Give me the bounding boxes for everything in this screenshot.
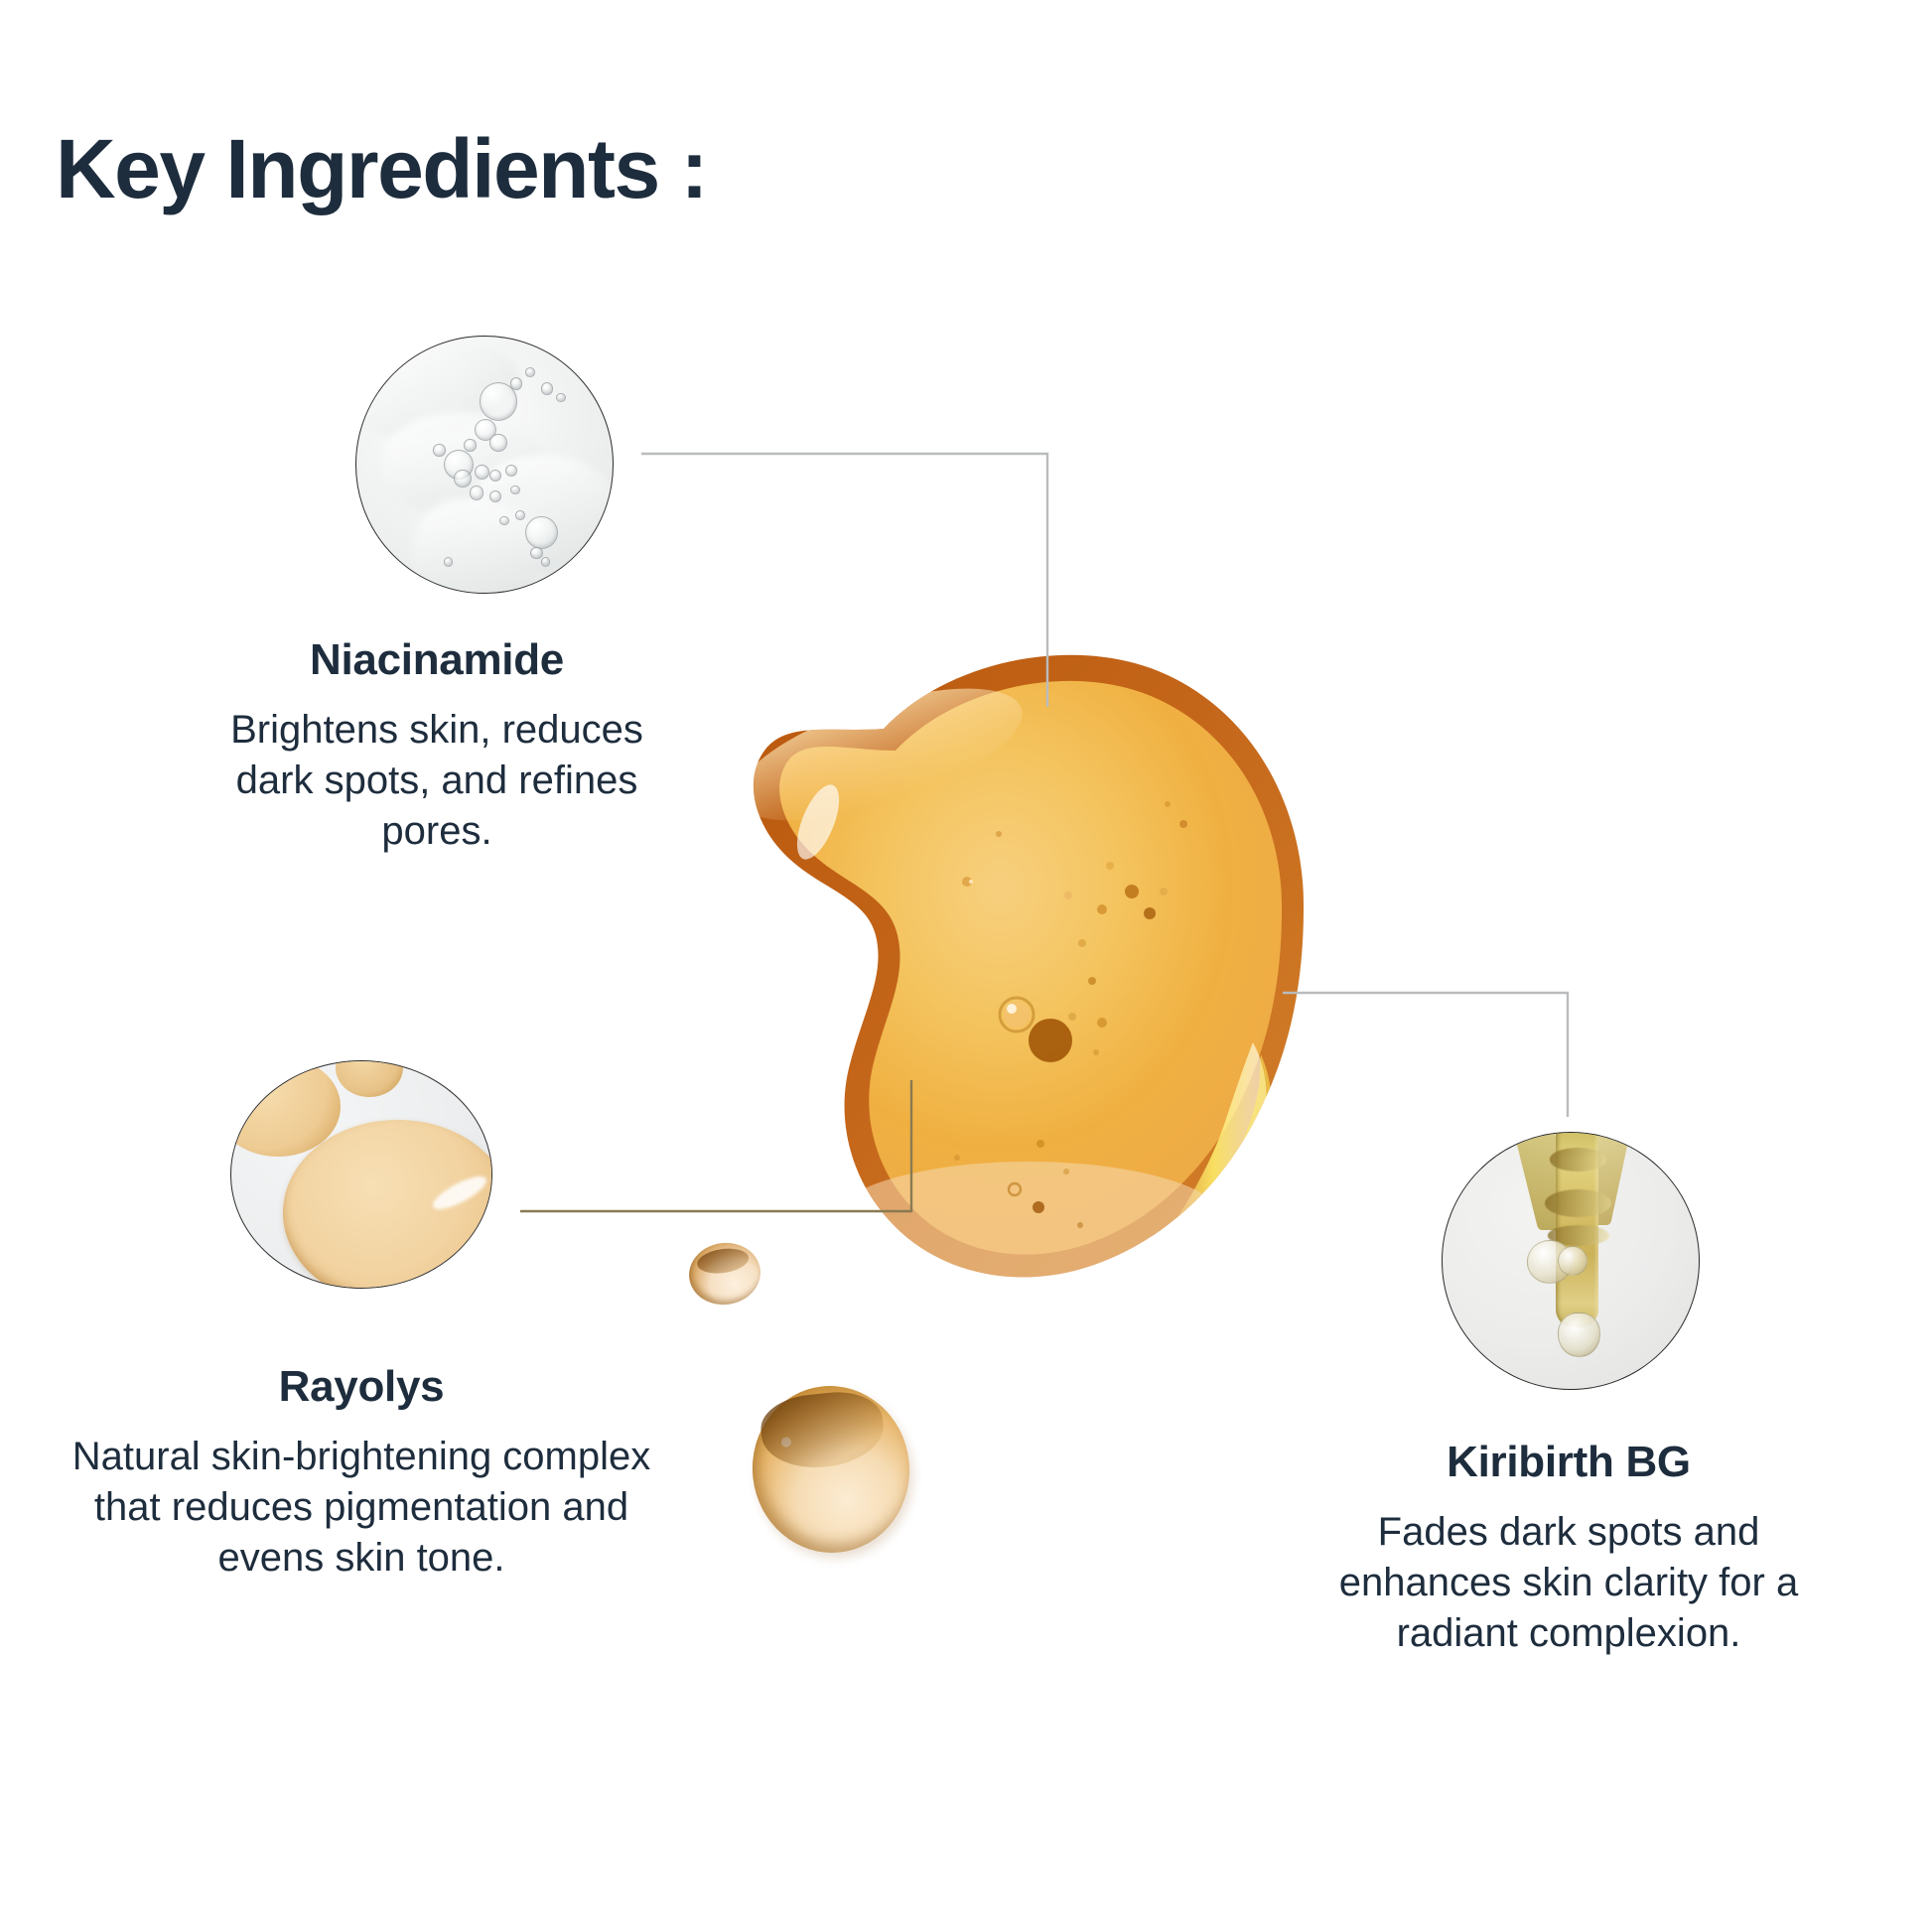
serum-droplet-large	[745, 1378, 918, 1561]
ingredient-image-kiribirth	[1442, 1132, 1700, 1390]
oil-band	[1545, 1189, 1611, 1217]
ingredient-name-rayolys: Rayolys	[109, 1362, 614, 1412]
bubble-icon	[433, 444, 445, 456]
oil-drop-falling	[1558, 1312, 1600, 1358]
ingredient-image-niacinamide	[355, 336, 614, 594]
ingredient-description-niacinamide: Brightens skin, reduces dark spots, and …	[189, 705, 685, 856]
oil-puddle-small	[336, 1060, 403, 1097]
ingredient-image-rayolys	[230, 1060, 492, 1289]
bubble-icon	[489, 434, 506, 451]
bubble-icon	[444, 557, 454, 567]
oil-band	[1550, 1148, 1606, 1171]
bubble-icon	[525, 367, 535, 377]
ingredient-description-rayolys: Natural skin-brightening complex that re…	[60, 1432, 663, 1583]
bubble-icon	[470, 485, 484, 500]
bubble-icon	[541, 382, 553, 394]
hero-serum-blob	[701, 616, 1316, 1311]
droplet-gloss	[780, 1437, 791, 1448]
bubble-icon	[556, 393, 566, 403]
page-title: Key Ingredients :	[56, 121, 707, 217]
bubble-icon	[541, 557, 551, 567]
ingredient-name-kiribirth: Kiribirth BG	[1301, 1438, 1837, 1487]
bubble-icon	[510, 377, 522, 389]
ingredients-infographic: Key Ingredients :	[0, 0, 1932, 1932]
bubble-icon	[464, 439, 476, 451]
bubble-icon	[454, 470, 471, 486]
puddle-gloss	[429, 1171, 490, 1215]
bubble-icon	[515, 510, 525, 520]
ingredient-description-kiribirth: Fades dark spots and enhances skin clari…	[1320, 1507, 1817, 1658]
bubble-icon	[530, 547, 542, 559]
bubble-icon	[475, 465, 489, 480]
bubble-icon	[525, 516, 558, 549]
bubble-icon	[510, 485, 520, 495]
ingredient-name-niacinamide: Niacinamide	[159, 635, 715, 685]
